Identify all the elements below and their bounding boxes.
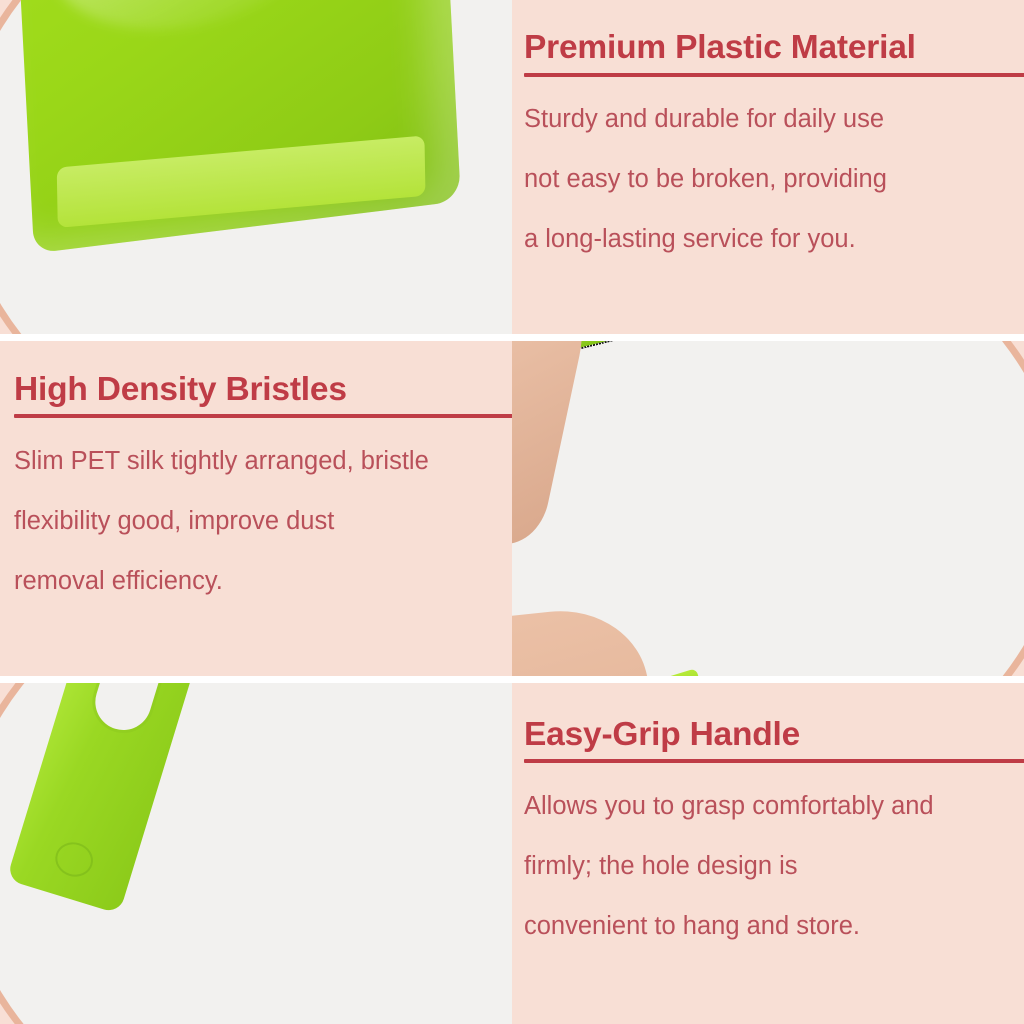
panel-2-body-line-3: removal efficiency. [14,564,526,599]
feature-panel-easy-grip-handle: Easy-Grip Handle Allows you to grasp com… [0,683,1024,1024]
dustpan-shape [13,0,461,253]
panel-2-copy: High Density Bristles Slim PET silk tigh… [0,341,512,676]
feature-panel-high-density-bristles: High Density Bristles Slim PET silk tigh… [0,341,1024,676]
dustpan-photo [0,0,512,334]
panel-1-copy: Premium Plastic Material Sturdy and dura… [512,0,1024,334]
panel-1-body-line-2: not easy to be broken, providing [524,162,1024,197]
panel-1-dot-ornament [1018,283,1024,305]
feature-panel-premium-plastic-material: Premium Plastic Material Sturdy and dura… [0,0,1024,334]
handle-rivet-icon [51,837,97,881]
hand-palm-shape [512,602,663,676]
panel-3-media [0,683,512,1024]
panel-3-body-line-2: firmly; the hole design is [524,849,1024,884]
hand-thumb-shape [512,341,598,551]
panel-3-heading-rule [524,759,1024,763]
panel-3-copy: Easy-Grip Handle Allows you to grasp com… [512,683,1024,1024]
panel-3-body-line-1: Allows you to grasp comfortably and [524,789,1024,824]
panel-1-body-line-1: Sturdy and durable for daily use [524,102,1024,137]
panel-2-heading-rule [14,414,526,418]
panel-3-dot-ornament [1006,970,1024,992]
panel-1-heading: Premium Plastic Material [524,29,1024,67]
panel-2-body-line-1: Slim PET silk tightly arranged, bristle [14,444,526,479]
handle-photo [0,683,512,1024]
panel-3-heading: Easy-Grip Handle [524,715,1024,753]
panel-2-media [512,341,1024,676]
panel-1-heading-rule [524,73,1024,77]
panel-2-body-line-2: flexibility good, improve dust [14,504,526,539]
handle-shape [6,683,215,914]
panel-2-heading: High Density Bristles [14,370,526,408]
bristles-photo [512,341,1024,676]
panel-3-body-line-3: convenient to hang and store. [524,909,1024,944]
hanging-hole-shape [88,683,174,736]
panel-1-media [0,0,512,334]
panel-1-body-line-3: a long-lasting service for you. [524,222,1024,257]
infographic-stage: Premium Plastic Material Sturdy and dura… [0,0,1024,1024]
